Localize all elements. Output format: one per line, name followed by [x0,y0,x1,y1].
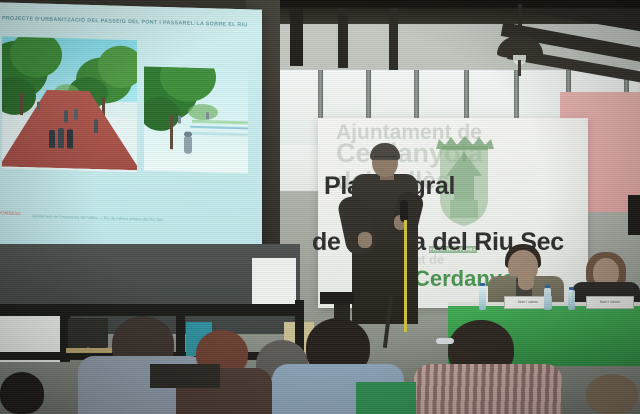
microphone-icon [400,200,408,222]
microphone-cable [404,220,407,332]
bottle-cap [569,287,574,290]
eyeglasses-icon [436,338,454,344]
speaker-left-hand [358,232,372,248]
panelist-man-hands [518,268,534,290]
roof-post [389,6,398,70]
roof-post [338,2,348,68]
handrail [0,304,300,316]
chair-rail [66,348,112,353]
slide-render-right [144,66,248,173]
roof-trusses [250,0,640,88]
water-bottle [544,288,551,310]
lamp-stem [518,60,521,76]
nameplate-text: Nom i càrrec [587,297,633,308]
slide-logo: POMSESC [0,210,21,216]
lamp-rod [518,4,522,40]
bottle-cap [545,285,550,288]
chair [68,318,88,348]
nameplate: Nom i càrrec [586,296,634,309]
chair [88,318,108,348]
water-bottle [568,290,575,310]
roof-edge [250,0,640,8]
glasses-icon [374,156,396,162]
wall-dark-strip [628,195,640,235]
projection-screen: PROJECTE D'URBANITZACIÓ DEL PASSEIG DEL … [0,2,262,255]
photo-scene: PROJECTE D'URBANITZACIÓ DEL PASSEIG DEL … [0,0,640,414]
water-bottle [479,286,486,310]
laptop [150,364,220,388]
slide-render-left [2,36,137,172]
roof-post [290,0,303,66]
green-folder [356,382,416,414]
bottle-cap [480,283,485,286]
equipment-box [320,292,354,304]
